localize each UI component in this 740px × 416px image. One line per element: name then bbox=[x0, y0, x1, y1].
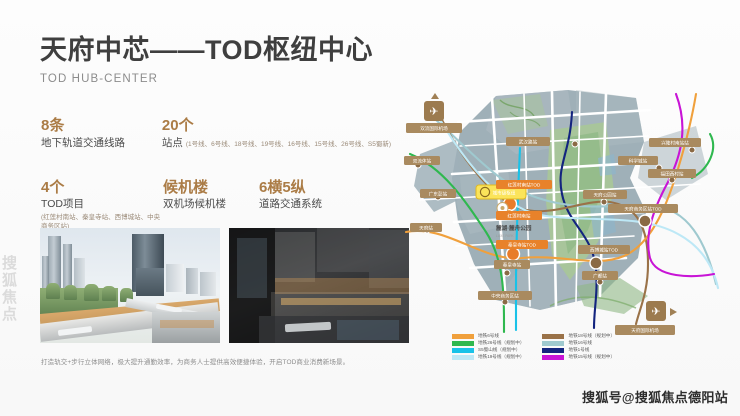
station-label: 兴隆村南站站 bbox=[649, 138, 701, 147]
svg-text:天府站: 天府站 bbox=[419, 224, 433, 231]
legend-swatch bbox=[542, 355, 564, 360]
station-label: 天府公园站 bbox=[583, 190, 627, 199]
stat-item-terminal: 候机楼 双机场候机楼 bbox=[163, 179, 259, 232]
station-label: 福田西村站 bbox=[648, 169, 696, 178]
hub-badge-label: 城市级枢纽 bbox=[493, 190, 516, 197]
arrow-icon bbox=[670, 308, 677, 316]
photo-tower bbox=[200, 272, 216, 296]
stat-label-text: TOD项目 bbox=[41, 198, 84, 210]
stats-row-2: 4个 TOD项目 (红莲村南站、秦皇寺站、西博城站、中央商务区站) 候机楼 双机… bbox=[41, 179, 391, 232]
park-label-en: LUXE PARK bbox=[496, 234, 515, 238]
stat-label: 地下轨道交通线路 bbox=[41, 136, 162, 152]
station-label: 西博城站TOD bbox=[578, 245, 630, 254]
header: 天府中芯——TOD枢纽中心 TOD HUB-CENTER bbox=[40, 36, 373, 85]
map-legend: 地铁6号线 地铁26号线（规划中） S5蜀山线（规划中） 地铁19号线（规划中）… bbox=[452, 334, 615, 360]
photo-gallery bbox=[40, 228, 409, 343]
photo-building bbox=[275, 232, 315, 282]
svg-text:广东彭站: 广东彭站 bbox=[429, 190, 448, 197]
photo-glass-facade bbox=[237, 238, 267, 298]
station-label: 天府站 bbox=[410, 223, 442, 232]
stat-label: 双机场候机楼 bbox=[163, 197, 259, 213]
interchange-marker bbox=[590, 257, 602, 269]
photo-glass-roof bbox=[337, 320, 399, 340]
photo-building bbox=[317, 228, 369, 272]
legend-item: 地铁6号线 bbox=[452, 334, 524, 339]
stat-number: 6横5纵 bbox=[259, 179, 322, 198]
photo-tree bbox=[46, 283, 60, 299]
svg-text:福田西村站: 福田西村站 bbox=[661, 170, 684, 177]
photo-tree bbox=[84, 284, 99, 301]
airport-label-shuangliu: 双流国际机场 bbox=[420, 125, 448, 132]
station-label: 武汉路站 bbox=[506, 137, 550, 146]
station-label: 广东彭站 bbox=[420, 189, 456, 198]
legend-label: 地铁26号线（规划中） bbox=[478, 341, 524, 346]
legend-swatch bbox=[452, 348, 474, 353]
svg-text:西博城站TOD: 西博城站TOD bbox=[590, 246, 619, 253]
photo-concourse-light bbox=[281, 298, 401, 305]
legend-swatch bbox=[452, 341, 474, 346]
svg-text:秦皇寺站TOD: 秦皇寺站TOD bbox=[508, 241, 537, 248]
legend-label: S5蜀山线（规划中） bbox=[478, 348, 520, 353]
station-label: 广都站 bbox=[582, 271, 618, 280]
legend-swatch bbox=[452, 334, 474, 339]
stat-item-roads: 6横5纵 道路交通系统 bbox=[259, 179, 322, 232]
station-label: 秦皇寺站TOD bbox=[496, 240, 548, 249]
photo-tod-rendering-night bbox=[229, 228, 409, 343]
svg-text:兴隆村南站站: 兴隆村南站站 bbox=[661, 139, 689, 146]
airport-label-tianfu: 天府国际机场 bbox=[631, 327, 659, 334]
legend-item: 地铁19号线（规划中） bbox=[452, 355, 524, 360]
watermark-text: 搜狐号@搜狐焦点德阳站 bbox=[582, 387, 728, 406]
legend-column-2: 地铁18号线（规划中） 地铁16号线 地铁1号线 地铁15号线（规划中） bbox=[542, 334, 614, 360]
station-label: 双流体站 bbox=[404, 156, 440, 165]
watermark-left: 搜狐焦点 bbox=[0, 255, 19, 323]
legend-swatch bbox=[542, 341, 564, 346]
stats-block: 8条 地下轨道交通线路 20个 站点 (1号线、6号线、18号线、19号线、16… bbox=[41, 117, 391, 232]
svg-text:天府商务区站TOD: 天府商务区站TOD bbox=[624, 205, 662, 212]
station-label: 科学城站 bbox=[618, 156, 658, 165]
stat-label: 道路交通系统 bbox=[259, 197, 322, 213]
transit-map: .dist { fill:#9fb0b8; } .dist2 { fill:#a… bbox=[400, 82, 740, 337]
map-airport-shuangliu: ✈ 双流国际机场 bbox=[406, 93, 462, 133]
legend-label: 地铁15号线（规划中） bbox=[568, 355, 614, 360]
stat-item-tod: 4个 TOD项目 (红莲村南站、秦皇寺站、西博城站、中央商务区站) bbox=[41, 179, 163, 232]
svg-text:武汉路站: 武汉路站 bbox=[519, 138, 538, 145]
photo-tower bbox=[186, 268, 198, 294]
legend-item: 地铁1号线 bbox=[542, 348, 614, 353]
stat-number: 20个 bbox=[162, 117, 391, 136]
interchange-marker bbox=[639, 215, 651, 227]
legend-item: 地铁26号线（规划中） bbox=[452, 341, 524, 346]
svg-text:天府公园站: 天府公园站 bbox=[594, 191, 617, 198]
station-label: 中央商务区站 bbox=[478, 291, 532, 300]
svg-text:广都站: 广都站 bbox=[593, 272, 607, 279]
legend-column-1: 地铁6号线 地铁26号线（规划中） S5蜀山线（规划中） 地铁19号线（规划中） bbox=[452, 334, 524, 360]
stat-label-text: 站点 bbox=[162, 137, 183, 149]
svg-text:中央商务区站: 中央商务区站 bbox=[491, 292, 519, 299]
photo-tod-rendering-day bbox=[40, 228, 220, 343]
stat-item-lines: 8条 地下轨道交通线路 bbox=[41, 117, 162, 152]
legend-label: 地铁1号线 bbox=[568, 348, 589, 353]
legend-label: 地铁6号线 bbox=[478, 334, 499, 339]
station-label: 秦皇寺站 bbox=[494, 260, 530, 269]
photo-caption: 打造轨交+步行立体网络，极大提升通勤效率，为商务人士提供高效便捷体验，开启TOD… bbox=[41, 356, 349, 366]
station-label: 天府商务区站TOD bbox=[608, 204, 678, 213]
stat-sub-text: (1号线、6号线、18号线、19号线、16号线、15号线、26号线、S5蜀新) bbox=[186, 141, 391, 148]
park-label: 麓湖·麓舟公园 bbox=[496, 224, 532, 232]
stat-number: 8条 bbox=[41, 117, 162, 136]
legend-label: 地铁18号线（规划中） bbox=[568, 334, 614, 339]
photo-tower-podium bbox=[136, 268, 164, 296]
svg-text:秦皇寺站: 秦皇寺站 bbox=[503, 261, 522, 268]
legend-label: 地铁16号线 bbox=[568, 341, 592, 346]
legend-item: 地铁16号线 bbox=[542, 341, 614, 346]
legend-item: S5蜀山线（规划中） bbox=[452, 348, 524, 353]
legend-swatch bbox=[542, 334, 564, 339]
legend-swatch bbox=[452, 355, 474, 360]
stats-row-1: 8条 地下轨道交通线路 20个 站点 (1号线、6号线、18号线、19号线、16… bbox=[41, 117, 391, 152]
legend-item: 地铁18号线（规划中） bbox=[542, 334, 614, 339]
interchange-marker bbox=[507, 248, 520, 261]
stat-label: TOD项目 bbox=[41, 197, 163, 213]
svg-text:红莲村南站TOD: 红莲村南站TOD bbox=[508, 181, 541, 188]
page-title: 天府中芯——TOD枢纽中心 bbox=[40, 36, 373, 66]
slide-page: 天府中芯——TOD枢纽中心 TOD HUB-CENTER 8条 地下轨道交通线路… bbox=[0, 0, 740, 416]
photo-concourse-light bbox=[160, 320, 214, 328]
photo-tree bbox=[64, 285, 77, 300]
stat-number: 候机楼 bbox=[163, 179, 259, 198]
stat-number: 4个 bbox=[41, 179, 163, 198]
airplane-icon: ✈ bbox=[651, 306, 660, 318]
svg-text:科学城站: 科学城站 bbox=[629, 157, 648, 164]
airplane-icon: ✈ bbox=[429, 106, 438, 118]
station-label: 红莲村南站TOD bbox=[496, 180, 552, 189]
photo-tree bbox=[102, 286, 116, 301]
legend-label: 地铁19号线（规划中） bbox=[478, 355, 524, 360]
station-label: 红莲村南站 bbox=[496, 211, 542, 220]
stat-item-stations: 20个 站点 (1号线、6号线、18号线、19号线、16号线、15号线、26号线… bbox=[162, 117, 391, 152]
legend-swatch bbox=[542, 348, 564, 353]
svg-text:双流体站: 双流体站 bbox=[413, 157, 432, 164]
photo-tower bbox=[166, 264, 184, 292]
watermark-right: 搜狐号@搜狐焦点德阳站 bbox=[582, 387, 728, 406]
legend-item: 地铁15号线（规划中） bbox=[542, 355, 614, 360]
page-subtitle: TOD HUB-CENTER bbox=[40, 73, 373, 85]
svg-text:红莲村南站: 红莲村南站 bbox=[508, 212, 531, 219]
stat-label: 站点 (1号线、6号线、18号线、19号线、16号线、15号线、26号线、S5蜀… bbox=[162, 136, 391, 152]
